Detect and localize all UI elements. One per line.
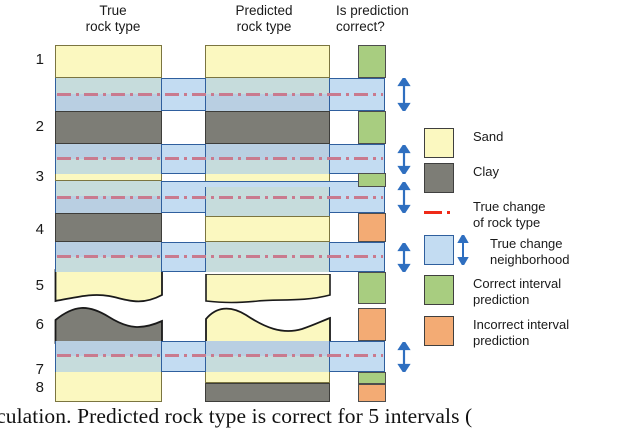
status-interval-7-correct — [358, 372, 386, 384]
legend-swatch-incorrect — [424, 316, 454, 346]
neighborhood-extent-arrow-1 — [396, 78, 412, 116]
legend-item-true-change: True change of rock type — [424, 198, 630, 231]
neighborhood-2-pred-lower-half — [205, 160, 330, 174]
legend-swatch-neighborhood — [424, 235, 454, 265]
row-label-6: 6 — [22, 317, 44, 332]
legend-dashed-line-icon — [424, 198, 454, 228]
true-change-line-2 — [57, 157, 383, 160]
legend-item-neighborhood: True change neighborhood — [424, 235, 630, 268]
status-interval-5-correct — [358, 272, 386, 304]
true-interval-2-clay — [55, 111, 162, 144]
neighborhood-1-upper-half — [55, 78, 162, 94]
neighborhood-1-pred-lower-half — [205, 94, 330, 111]
column-header-is-prediction-correct: Is prediction correct? — [336, 3, 440, 35]
legend-swatch-correct — [424, 275, 454, 305]
neighborhood-extent-arrow-5 — [396, 342, 412, 377]
pred-interval-8-clay — [205, 383, 330, 402]
status-interval-4-incorrect — [358, 213, 386, 242]
true-change-line-1 — [57, 93, 383, 96]
row-label-3: 3 — [22, 169, 44, 184]
column-header-predicted-rock-type: Predicted rock type — [206, 3, 322, 35]
status-interval-6-incorrect — [358, 308, 386, 341]
pred-interval-6-sand-wavy — [204, 303, 332, 343]
figure-caption-text: lculation. Predicted rock type is correc… — [0, 404, 636, 429]
pred-interval-7-sand — [205, 371, 330, 383]
true-interval-4-clay — [55, 213, 162, 242]
neighborhood-3-pred-upper-half — [205, 187, 330, 216]
true-interval-6-clay-wavy — [54, 307, 164, 344]
row-label-1: 1 — [22, 52, 44, 67]
legend-label-neighborhood: True change neighborhood — [490, 235, 570, 268]
legend-label-clay: Clay — [473, 163, 499, 180]
neighborhood-1-pred-upper-half — [205, 78, 330, 94]
status-interval-1-correct — [358, 45, 386, 78]
neighborhood-extent-arrow-4 — [396, 243, 412, 277]
pred-interval-5-sand-wavy — [204, 274, 332, 306]
true-change-line-5 — [57, 354, 383, 357]
rock-type-prediction-figure: True rock type Predicted rock type Is pr… — [0, 0, 636, 438]
legend-item-correct: Correct interval prediction — [424, 275, 630, 308]
neighborhood-extent-arrow-2 — [396, 145, 412, 179]
true-interval-1-sand — [55, 45, 162, 78]
true-interval-5-sand-wavy — [54, 269, 164, 305]
true-interval-7-8-sand — [55, 371, 162, 402]
legend-label-incorrect: Incorrect interval prediction — [473, 316, 569, 349]
legend-item-sand: Sand — [424, 128, 630, 158]
legend-item-incorrect: Incorrect interval prediction — [424, 316, 630, 349]
neighborhood-5-pred-lower-half — [205, 356, 330, 372]
status-interval-8-incorrect — [358, 384, 386, 402]
column-header-true-rock-type: True rock type — [58, 3, 168, 35]
row-label-2: 2 — [22, 119, 44, 134]
row-label-5: 5 — [22, 278, 44, 293]
row-label-8: 8 — [22, 380, 44, 395]
legend-swatch-clay — [424, 163, 454, 193]
row-label-4: 4 — [22, 222, 44, 237]
true-change-line-4 — [57, 255, 383, 258]
status-interval-2-correct — [358, 111, 386, 144]
neighborhood-2-lower-half — [55, 159, 162, 174]
legend-swatch-sand — [424, 128, 454, 158]
pred-interval-4-sand — [205, 216, 330, 242]
pred-interval-2-clay — [205, 111, 330, 144]
neighborhood-1-lower-half — [55, 94, 162, 111]
legend-label-true-change: True change of rock type — [473, 198, 546, 231]
legend-label-correct: Correct interval prediction — [473, 275, 561, 308]
legend-label-sand: Sand — [473, 128, 503, 145]
status-interval-3-correct — [358, 173, 386, 187]
neighborhood-3-upper-half — [55, 181, 162, 196]
legend: Sand Clay True change of rock type — [424, 128, 630, 354]
legend-double-arrow-icon — [456, 235, 470, 270]
neighborhood-4-lower-half — [55, 257, 162, 272]
true-change-line-3 — [57, 196, 383, 199]
row-label-7: 7 — [22, 362, 44, 377]
neighborhood-extent-arrow-3 — [396, 182, 412, 218]
legend-item-clay: Clay — [424, 163, 630, 193]
pred-interval-1-sand — [205, 45, 330, 78]
neighborhood-5-lower-half — [55, 356, 162, 372]
